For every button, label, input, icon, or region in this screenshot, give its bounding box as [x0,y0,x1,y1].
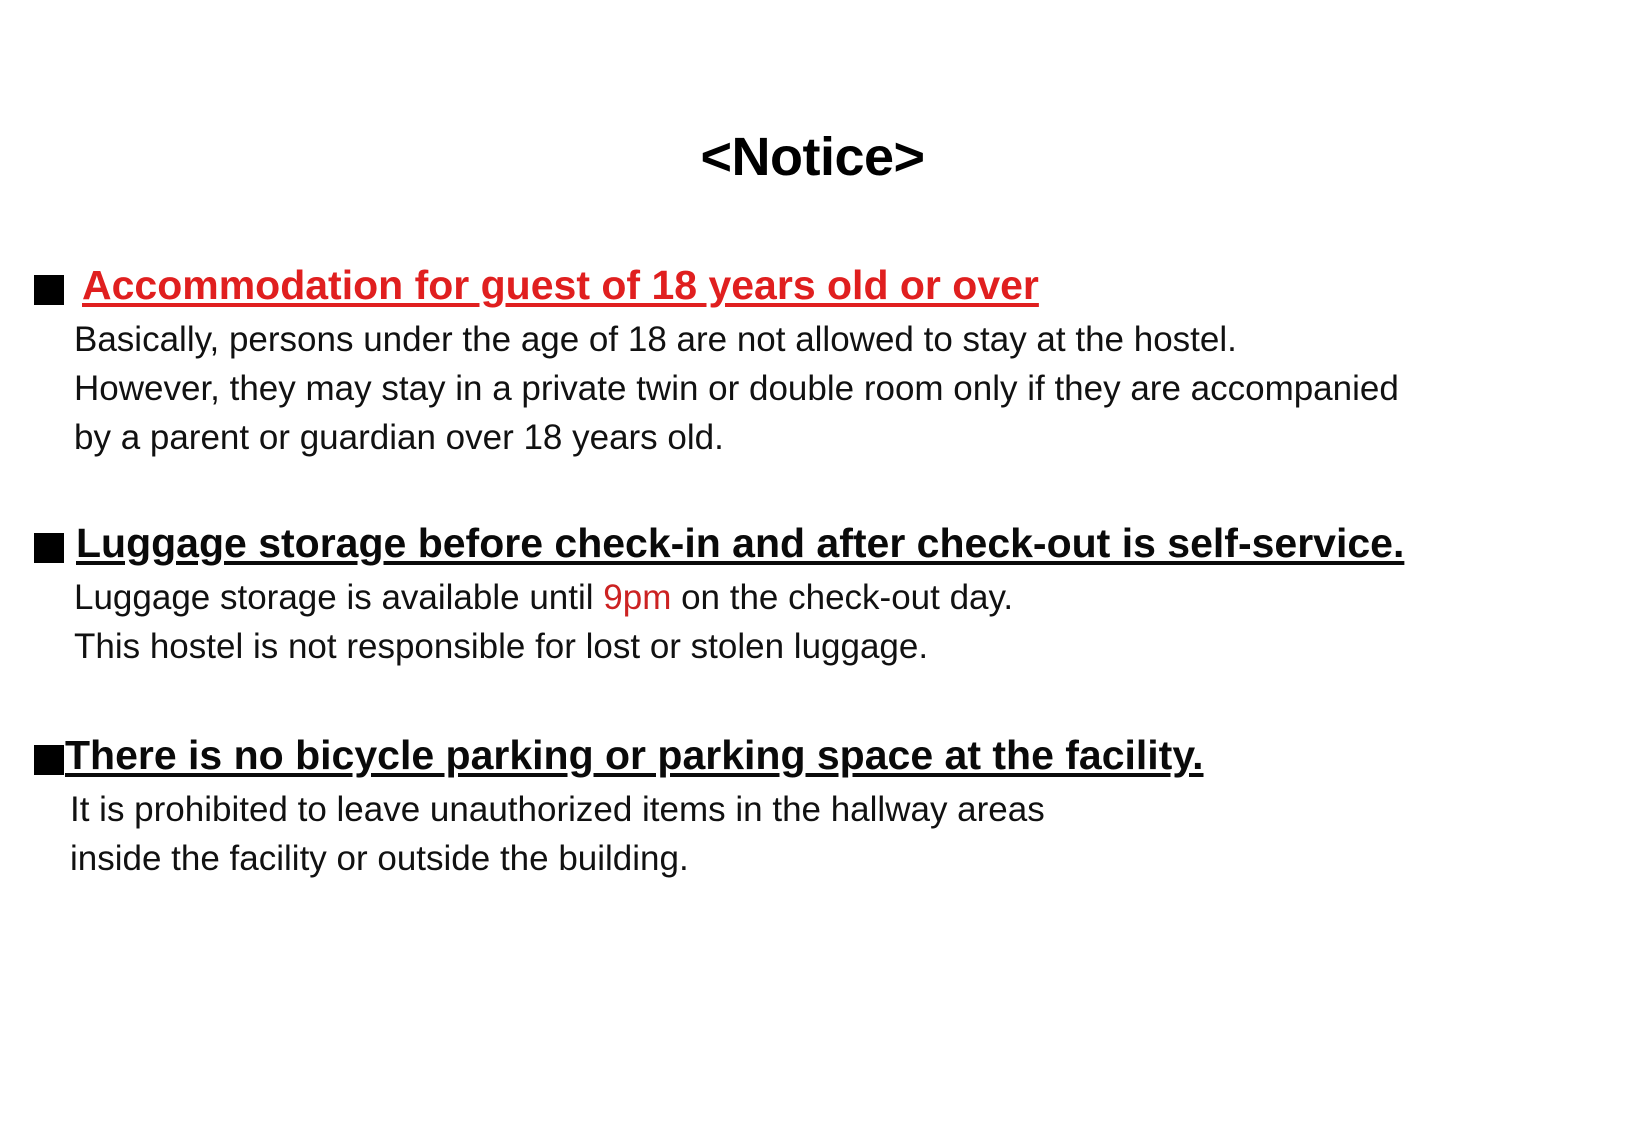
body-line: inside the facility or outside the build… [70,834,1594,883]
body-line: However, they may stay in a private twin… [74,364,1594,413]
notice-section-parking: There is no bicycle parking or parking s… [34,732,1594,883]
notice-slide: <Notice> Accommodation for guest of 18 y… [0,0,1625,1125]
section-heading-parking: There is no bicycle parking or parking s… [65,732,1204,779]
section-heading-accommodation: Accommodation for guest of 18 years old … [82,262,1039,309]
notice-section-accommodation: Accommodation for guest of 18 years old … [34,262,1594,462]
section-body-luggage: Luggage storage is available until 9pm o… [74,573,1594,671]
black-square-bullet-icon [34,275,64,305]
notice-section-luggage: Luggage storage before check-in and afte… [34,520,1594,671]
section-body-accommodation: Basically, persons under the age of 18 a… [74,315,1594,462]
body-text-after-time: on the check-out day. [671,578,1013,617]
body-line-luggage-hours: Luggage storage is available until 9pm o… [74,573,1594,622]
body-text-before-time: Luggage storage is available until [74,578,603,617]
section-heading-row: Accommodation for guest of 18 years old … [34,262,1594,309]
section-heading-row: There is no bicycle parking or parking s… [34,732,1594,779]
body-line: This hostel is not responsible for lost … [74,622,1594,671]
body-line: Basically, persons under the age of 18 a… [74,315,1594,364]
body-line: It is prohibited to leave unauthorized i… [70,785,1594,834]
section-body-parking: It is prohibited to leave unauthorized i… [70,785,1594,883]
section-heading-luggage: Luggage storage before check-in and afte… [76,520,1404,567]
body-line: by a parent or guardian over 18 years ol… [74,413,1594,462]
section-heading-row: Luggage storage before check-in and afte… [34,520,1594,567]
page-title: <Notice> [0,128,1625,187]
black-square-bullet-icon [34,745,64,775]
luggage-cutoff-time: 9pm [603,578,671,617]
black-square-bullet-icon [34,533,64,563]
